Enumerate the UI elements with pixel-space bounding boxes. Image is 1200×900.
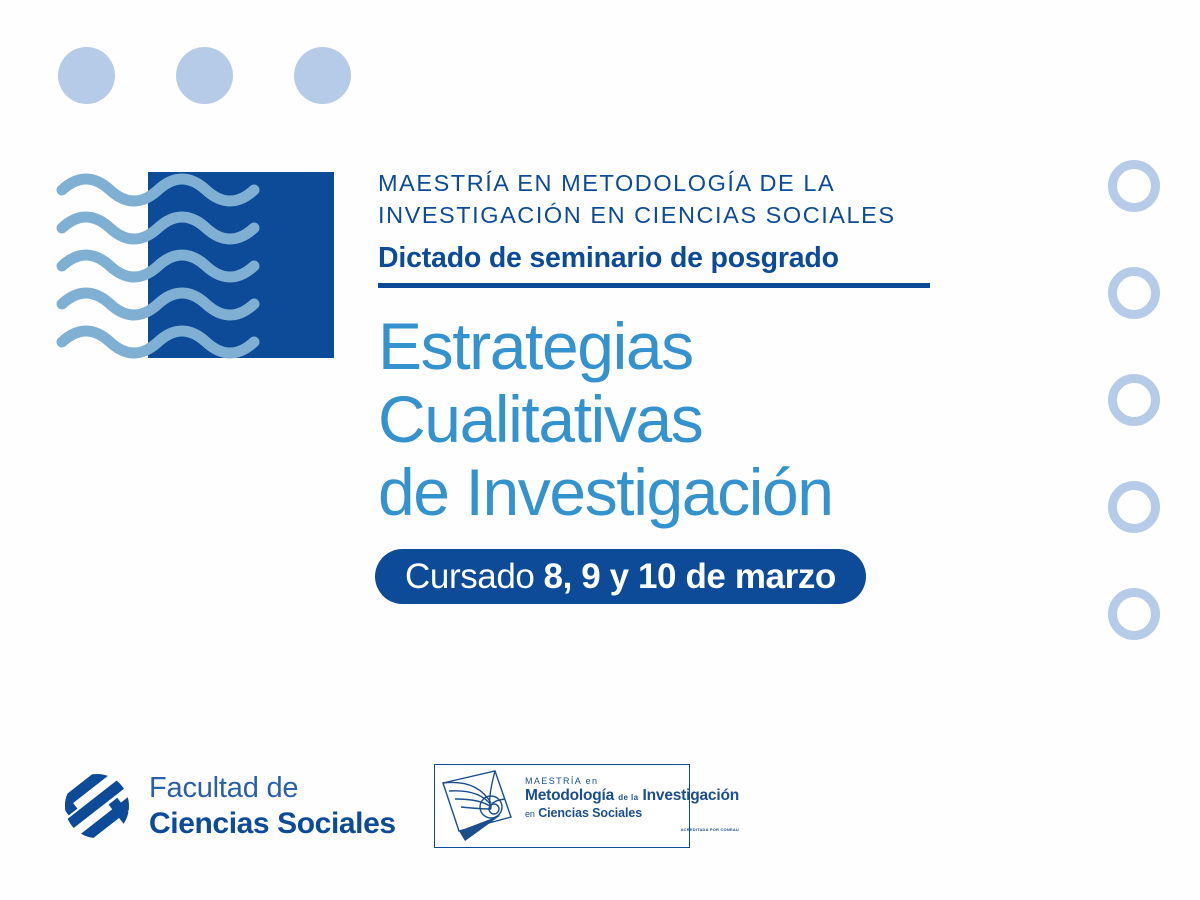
maestria-dela: de la: [618, 793, 638, 802]
ring-icon: [1108, 374, 1160, 426]
faculty-logo: Facultad de Ciencias Sociales: [63, 772, 396, 840]
program-kicker: MAESTRÍA EN METODOLOGÍA DE LA INVESTIGAC…: [378, 167, 938, 231]
maestria-wordmark: MAESTRÍA en Metodología de la Investigac…: [523, 765, 743, 847]
dot-icon: [58, 47, 115, 104]
maestria-line-3: en Ciencias Sociales: [525, 806, 739, 820]
faculty-line-2: Ciencias Sociales: [149, 808, 396, 840]
ring-icon: [1108, 481, 1160, 533]
ring-icon: [1108, 160, 1160, 212]
top-dots-decoration: [58, 47, 351, 104]
maestria-investigacion: Investigación: [643, 787, 739, 804]
event-subtitle: Dictado de seminario de posgrado: [378, 241, 938, 275]
maestria-ciencias-sociales: Ciencias Sociales: [538, 806, 642, 820]
date-badge-value: 8, 9 y 10 de marzo: [544, 557, 836, 597]
ring-icon: [1108, 588, 1160, 640]
poster-canvas: MAESTRÍA EN METODOLOGÍA DE LA INVESTIGAC…: [0, 0, 1200, 900]
headline-block: MAESTRÍA EN METODOLOGÍA DE LA INVESTIGAC…: [378, 167, 938, 529]
maestria-line-2: Metodología de la Investigación: [525, 787, 739, 805]
dot-icon: [294, 47, 351, 104]
ring-icon: [1108, 267, 1160, 319]
page-title: Estrategias Cualitativas de Investigació…: [378, 310, 938, 529]
date-badge: Cursado 8, 9 y 10 de marzo: [375, 549, 866, 604]
wave-emblem-icon: [50, 160, 350, 370]
maestria-en: en: [525, 809, 535, 819]
date-badge-prefix: Cursado: [405, 557, 535, 597]
faculty-wordmark: Facultad de Ciencias Sociales: [149, 773, 396, 840]
faculty-emblem-icon: [63, 772, 131, 840]
right-rings-decoration: [1108, 160, 1160, 640]
dot-icon: [176, 47, 233, 104]
maestria-metodologia: Metodología: [525, 787, 614, 804]
subtitle-underline: [378, 283, 930, 288]
maestria-line-1: MAESTRÍA en: [525, 776, 739, 786]
faculty-line-1: Facultad de: [149, 773, 396, 803]
maestria-logo-box: MAESTRÍA en Metodología de la Investigac…: [434, 764, 690, 848]
accreditation-stamp: ACREDITADA POR CONEAU: [681, 827, 739, 832]
nautilus-spiral-icon: [435, 765, 523, 847]
